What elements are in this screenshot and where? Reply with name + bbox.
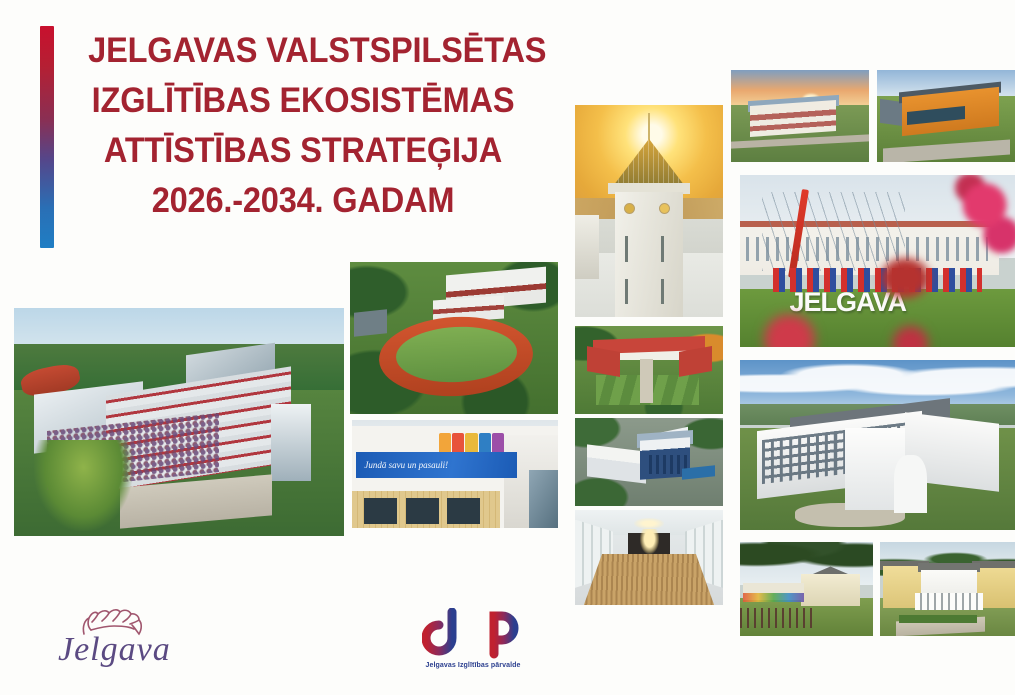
photo-kindergarten-under-trees [740,542,873,636]
photo-blue-white-manor-aerial [575,418,723,506]
photo-scene: JELGAVA [740,175,1015,347]
jip-subtitle: Jelgavas Izglītības pārvalde [412,662,534,669]
window [406,498,439,524]
flower-bokeh-bottom [740,313,1015,347]
ceiling-light [634,518,664,529]
photo-jelgava-letters-bridge: JELGAVA [740,175,1015,347]
clouds [740,363,1015,404]
photo-scene [575,105,723,317]
clock-face [659,203,670,214]
photo-junda-youth-centre: Jundā savu un pasauli! [352,420,558,528]
kindergarten-building [801,574,860,606]
photo-red-roof-school-aerial [575,326,723,414]
photo-school-running-track [350,262,558,414]
cover-page: JELGAVAS VALSTSPILSĒTAS IZGLĪTĪBAS EKOSI… [0,0,1015,695]
wooden-fence [740,608,814,629]
clock-face [624,203,635,214]
chair-rows [584,554,714,605]
parking-lot [354,309,387,337]
page-title: JELGAVAS VALSTSPILSĒTAS IZGLĪTĪBAS EKOSI… [72,26,534,226]
photo-church-tower-sunset [575,105,723,317]
photo-scene [877,70,1015,162]
glass-section [529,470,558,528]
photo-scene [350,262,558,414]
photo-historic-school-sunset-aerial [731,70,869,162]
arcade-windows [915,593,983,610]
jip-logo: Jelgavas Izglītības pārvalde [412,608,534,682]
photo-scene [575,418,723,506]
window [447,498,480,524]
photo-aerial-school-campus-crowd [14,308,344,536]
photo-white-institutional-building [740,360,1015,530]
jelgava-city-logo: Jelgava [58,608,218,678]
title-line-2: IZGLĪTĪBAS EKOSISTĒMAS [88,76,518,126]
photo-scene: Jundā savu un pasauli! [352,420,558,528]
spire [648,113,650,143]
photo-orange-sports-hall [877,70,1015,162]
window-slit [625,279,628,304]
title-line-1: JELGAVAS VALSTSPILSĒTAS [88,26,518,76]
photo-scene [880,542,1015,636]
side-building [575,215,599,279]
window-slit [625,236,628,261]
window-slit [661,236,664,261]
rounded-turret [894,455,927,513]
walkway [640,359,653,403]
tree-canopy [740,542,873,570]
photo-scene [731,70,869,162]
window-slit [661,279,664,304]
willow-tree [34,440,133,531]
title-line-3: ATTĪSTĪBAS STRATEĢIJA [88,126,518,176]
window [364,498,397,524]
photo-yellow-white-school [880,542,1015,636]
rainbow-mural [743,593,804,602]
photo-scene [740,360,1015,530]
photo-scene [575,326,723,414]
gradient-accent-bar [40,26,54,248]
photo-grand-hall-interior [575,510,723,605]
chandelier [640,529,659,554]
title-line-4: 2026.-2034. GADAM [88,176,518,226]
building-tower [271,404,311,482]
jelgava-wordmark: Jelgava [58,628,218,672]
hedge [899,615,977,623]
photo-scene [575,510,723,605]
photo-scene [14,308,344,536]
jip-monogram-icon [422,608,522,660]
banner-text: Jundā savu un pasauli! [364,456,492,475]
photo-scene [740,542,873,636]
school-building [750,100,836,137]
flower-bokeh-right [900,175,1015,292]
